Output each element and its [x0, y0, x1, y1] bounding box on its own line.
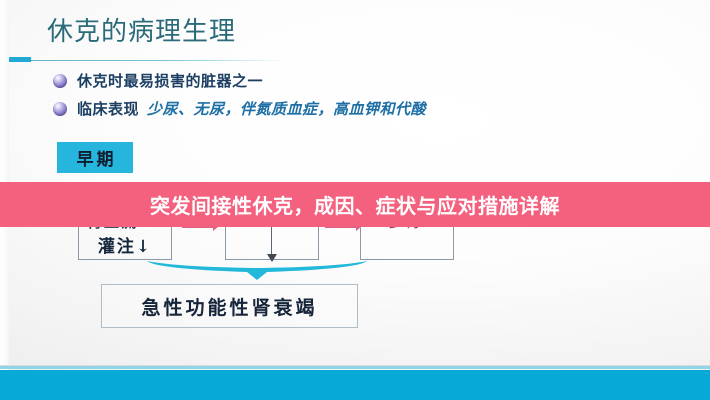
overlay-banner: 突发间接性休克，成因、症状与应对措施详解: [0, 182, 710, 227]
flow-result-label: 急性功能性肾衰竭: [141, 293, 317, 320]
page-title: 休克的病理生理: [47, 14, 236, 48]
bottom-accent-line: [0, 366, 710, 369]
sphere-bullet-icon: [53, 102, 67, 116]
flow-box-1-line-2: 灌注↓: [98, 232, 152, 257]
overlay-banner-text: 突发间接性休克，成因、症状与应对措施详解: [150, 190, 560, 219]
chevron-down-icon: [147, 259, 367, 283]
bottom-color-bar: [0, 370, 710, 400]
stage-tag-early: 早期: [57, 142, 133, 173]
presentation-slide: 休克的病理生理 休克时最易损害的脏器之一 临床表现 少尿、无尿，伴氮质血症，高血…: [0, 0, 710, 400]
bullet-2-label: 临床表现: [77, 98, 139, 119]
bullet-item-2: 临床表现 少尿、无尿，伴氮质血症，高血钾和代酸: [53, 98, 426, 119]
arrow-down-icon: [271, 226, 272, 256]
bullet-item-1: 休克时最易损害的脏器之一: [53, 70, 263, 91]
title-underline: [23, 60, 285, 61]
stage-tag-label: 早期: [74, 145, 117, 170]
sphere-bullet-icon: [53, 74, 67, 88]
slide-title-block: 休克的病理生理: [0, 14, 600, 54]
bullet-1-text: 休克时最易损害的脏器之一: [77, 70, 263, 91]
stage-tag-shadow: [62, 172, 138, 181]
flow-box-result: 急性功能性肾衰竭: [101, 284, 358, 328]
bullet-2-emphasis: 少尿、无尿，伴氮质血症，高血钾和代酸: [147, 98, 426, 119]
title-accent-dash: [9, 57, 31, 62]
